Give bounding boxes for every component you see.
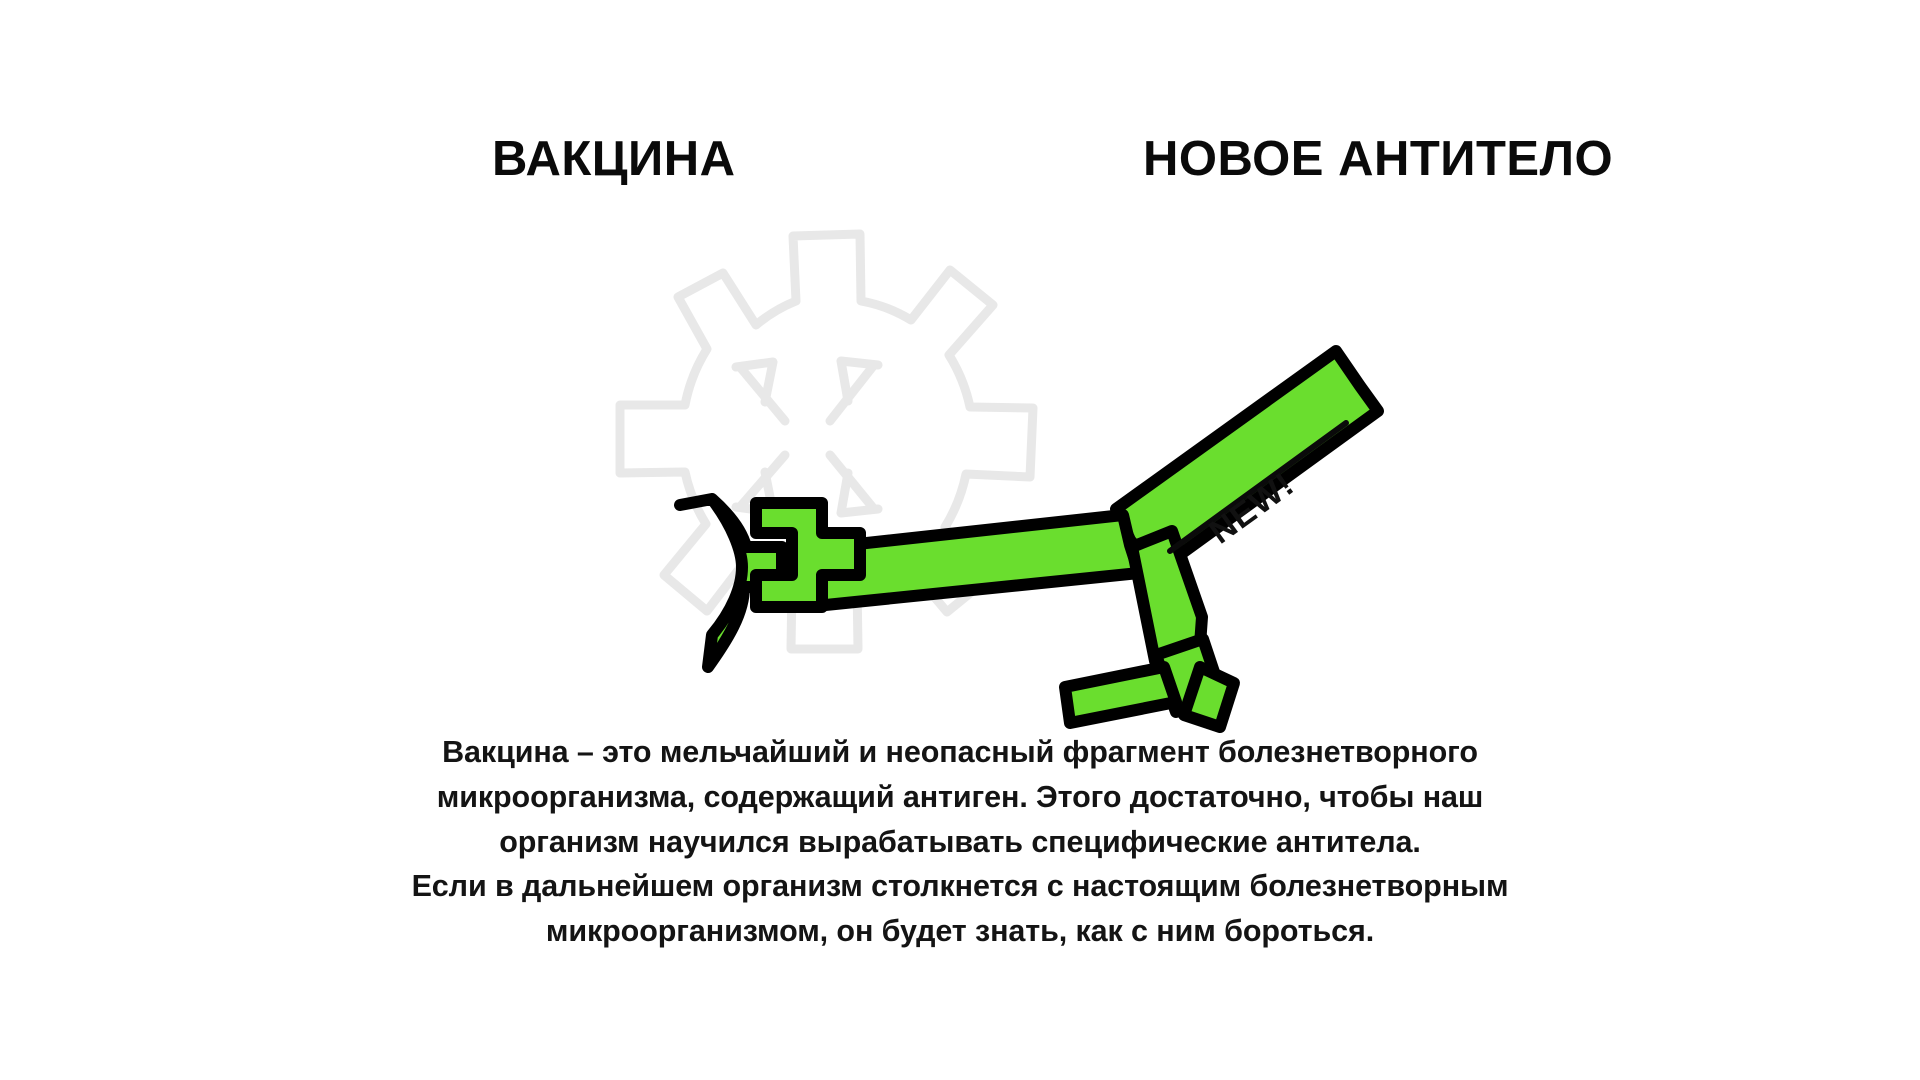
heading-new-antibody: НОВОЕ АНТИТЕЛО	[1143, 135, 1613, 184]
heading-vaccine: ВАКЦИНА	[492, 135, 736, 184]
body-line-1: Вакцина – это мельчайший и неопасный фра…	[240, 730, 1680, 775]
illustration-vaccine-antibody: NEW!	[560, 215, 1460, 715]
body-line-5: микроорганизмом, он будет знать, как с н…	[240, 909, 1680, 954]
body-line-2: микроорганизма, содержащий антиген. Этог…	[240, 775, 1680, 820]
slide-root: ВАКЦИНА НОВОЕ АНТИТЕЛО	[0, 0, 1920, 1080]
body-line-3: организм научился вырабатывать специфиче…	[240, 820, 1680, 865]
body-paragraph: Вакцина – это мельчайший и неопасный фра…	[240, 730, 1680, 954]
body-line-4: Если в дальнейшем организм столкнется с …	[240, 864, 1680, 909]
